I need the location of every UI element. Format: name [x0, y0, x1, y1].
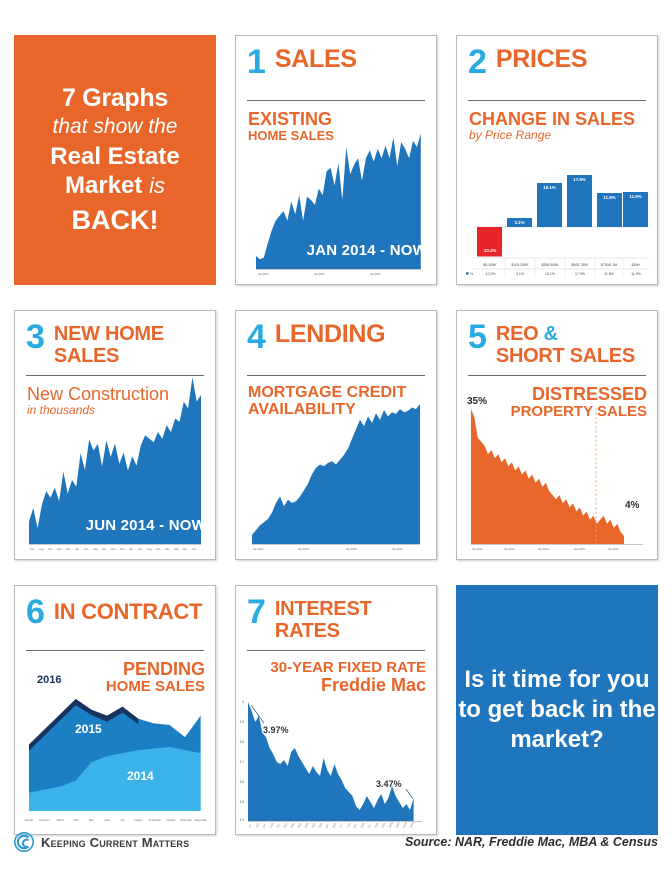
- panel-row-1: 7 Graphs that show the Real Estate Marke…: [14, 35, 660, 285]
- x-tick-2: Jan 2015: [346, 547, 357, 551]
- caption-main: PENDING: [123, 659, 205, 679]
- panel-lending-body: MORTGAGE CREDIT AVAILABILITY Apr 2012 Ja…: [236, 376, 436, 560]
- svg-text:Apr: Apr: [75, 547, 79, 551]
- x-tick-1: Jan 2013: [504, 547, 515, 551]
- svg-text:Oct: Oct: [48, 547, 52, 551]
- svg-text:Feb: Feb: [174, 547, 179, 551]
- y-tick-0: 4: [242, 700, 244, 704]
- svg-text:Oct: Oct: [156, 547, 160, 551]
- caption-main: MORTGAGE CREDIT: [248, 384, 406, 401]
- panel-row-2: 3 NEW HOME SALES New Construction in tho…: [14, 310, 660, 560]
- hero-line-3: Real Estate: [50, 143, 179, 171]
- svg-text:Jun: Jun: [138, 547, 143, 551]
- svg-text:July: July: [120, 818, 125, 822]
- panel-sales-header: 1 SALES: [236, 36, 436, 98]
- svg-text:Dec: Dec: [111, 547, 116, 551]
- chart-inlabel-date-range: JAN 2014 - NOW: [307, 242, 427, 259]
- svg-text:8/18: 8/18: [359, 822, 365, 829]
- caption-main: 30-YEAR FIXED RATE: [270, 659, 426, 676]
- y-tick-3: 3.7: [240, 760, 245, 764]
- svg-text:1/21: 1/21: [254, 822, 260, 829]
- svg-text:7/7: 7/7: [338, 823, 344, 829]
- y-tick-4: 3.6: [240, 780, 245, 784]
- bar-label-3: 17.9%: [573, 177, 586, 182]
- chart-caption-existing-home-sales: EXISTING HOME SALES: [248, 110, 334, 142]
- panel-reo-short-sales-number: 5: [468, 322, 487, 353]
- hero-title-box: 7 Graphs that show the Real Estate Marke…: [14, 35, 216, 285]
- svg-text:Aug: Aug: [39, 547, 44, 551]
- y-axis-tick-labels: 4 3.9 3.8 3.7 3.6 3.5 3.4: [240, 700, 245, 822]
- series-label-2016: 2016: [37, 674, 61, 686]
- caption-main: New Construction: [27, 384, 169, 404]
- source-attribution: Source: NAR, Freddie Mac, MBA & Census: [405, 835, 658, 849]
- panel-interest-rates-title: INTEREST RATES: [275, 597, 426, 642]
- panel-new-home-sales-number: 3: [26, 322, 45, 353]
- panel-in-contract-header: 6 IN CONTRACT: [15, 586, 215, 648]
- series-label-2015: 2015: [75, 722, 102, 736]
- svg-text:2/4: 2/4: [261, 823, 267, 829]
- hero-line-4: Market is: [65, 172, 165, 200]
- chart-caption-pending-home-sales: PENDING HOME SALES: [106, 660, 205, 694]
- cta-box: Is it time for you to get back in the ma…: [456, 585, 658, 835]
- svg-text:December: December: [195, 818, 207, 822]
- footer: Keeping Current Matters Source: NAR, Fre…: [14, 829, 658, 855]
- panel-in-contract-body: PENDING HOME SALES: [15, 651, 215, 835]
- svg-text:5/26: 5/26: [317, 822, 323, 829]
- panel-reo-short-sales-body: DISTRESSED PROPERTY SALES 35% 4% Jan 201…: [457, 376, 657, 560]
- hero-line-4-italic: is: [149, 173, 165, 198]
- svg-text:3/17: 3/17: [282, 822, 288, 829]
- y-tick-6: 3.4: [240, 818, 245, 822]
- svg-text:6/9: 6/9: [324, 823, 330, 829]
- panel-prices-body: CHANGE IN SALES by Price Range: [457, 101, 657, 285]
- svg-text:5/12: 5/12: [310, 822, 316, 829]
- panel-sales-body: EXISTING HOME SALES JAN 2014 - NOW Jan 2…: [236, 101, 436, 285]
- hero-line-4-main: Market: [65, 172, 142, 199]
- svg-text:Jun: Jun: [30, 547, 35, 551]
- y-tick-5: 3.5: [240, 800, 245, 804]
- panel-prices: 2 PRICES CHANGE IN SALES by Price Range: [456, 35, 658, 285]
- area-series: [248, 702, 414, 821]
- x-tick-0: Jan 2014: [258, 272, 269, 276]
- x-tick-2: Jan 2016: [370, 272, 381, 276]
- panel-reo-short-sales: 5 REO & SHORT SALES DISTRESSED PROPERTY …: [456, 310, 658, 560]
- x-tick-3: Jan 2016: [392, 547, 403, 551]
- panel-prices-number: 2: [468, 47, 487, 78]
- svg-text:Jun: Jun: [192, 547, 197, 551]
- start-value-label: 35%: [467, 396, 487, 407]
- svg-text:Jun: Jun: [84, 547, 89, 551]
- value-label-5: 11.9%: [631, 272, 641, 276]
- keeping-current-matters-logo-icon: [14, 832, 34, 852]
- svg-text:9/15: 9/15: [373, 822, 379, 829]
- title-ampersand: &: [544, 323, 558, 345]
- caption-main: CHANGE IN SALES: [469, 109, 635, 129]
- svg-text:4/14: 4/14: [296, 822, 302, 829]
- svg-text:1/7: 1/7: [247, 823, 253, 829]
- chart-caption-new-construction: New Construction in thousands: [27, 385, 169, 416]
- title-part-reo: REO: [496, 323, 538, 345]
- svg-text:3/3: 3/3: [275, 823, 281, 829]
- svg-text:March: March: [57, 818, 65, 822]
- panel-grid: 7 Graphs that show the Real Estate Marke…: [14, 35, 660, 860]
- x-tick-1: Jan 2013: [298, 547, 309, 551]
- chart-caption-mortgage-credit: MORTGAGE CREDIT AVAILABILITY: [248, 385, 406, 418]
- chart-caption-distressed: DISTRESSED PROPERTY SALES: [511, 385, 647, 419]
- panel-new-home-sales-title: NEW HOME SALES: [54, 322, 205, 367]
- svg-text:May: May: [89, 818, 95, 822]
- panel-lending: 4 LENDING MORTGAGE CREDIT AVAILABILITY A: [235, 310, 437, 560]
- svg-text:Aug: Aug: [93, 547, 98, 551]
- value-label-4: 11.8%: [604, 272, 614, 276]
- caption-sub: in thousands: [27, 404, 169, 416]
- panel-reo-short-sales-title: REO & SHORT SALES: [496, 322, 635, 367]
- svg-text:2/18: 2/18: [268, 822, 274, 829]
- end-annotation-leader: [406, 789, 413, 799]
- panel-interest-rates-number: 7: [247, 597, 266, 628]
- caption-sub: by Price Range: [469, 129, 635, 141]
- end-value-label: 3.47%: [376, 779, 402, 789]
- svg-text:8/4: 8/4: [352, 823, 358, 829]
- svg-text:3/31: 3/31: [289, 822, 295, 829]
- chart-caption-30yr-fixed: 30-YEAR FIXED RATE Freddie Mac: [270, 660, 426, 694]
- panel-sales-number: 1: [247, 47, 266, 78]
- caption-sub: HOME SALES: [248, 129, 334, 143]
- panel-prices-header: 2 PRICES: [457, 36, 657, 98]
- svg-text:Feb: Feb: [66, 547, 71, 551]
- svg-text:September: September: [149, 818, 162, 822]
- chart-caption-change-in-sales: CHANGE IN SALES by Price Range: [469, 110, 635, 141]
- legend-swatch: [466, 272, 469, 275]
- panel-in-contract-number: 6: [26, 597, 45, 628]
- category-label-1: $100-250K: [511, 263, 529, 267]
- x-axis-month-labels: January February March April May June Ju…: [24, 818, 207, 822]
- svg-text:6/23: 6/23: [331, 822, 337, 829]
- hero-line-1: 7 Graphs: [62, 84, 168, 114]
- value-label-3: 17.9%: [575, 272, 585, 276]
- panel-reo-short-sales-header: 5 REO & SHORT SALES: [457, 311, 657, 373]
- caption-main: EXISTING: [248, 109, 332, 129]
- area-series: [252, 404, 420, 544]
- panel-in-contract: 6 IN CONTRACT PENDING HOME SALES: [14, 585, 216, 835]
- caption-sub: Freddie Mac: [270, 676, 426, 695]
- panel-prices-title: PRICES: [496, 47, 587, 72]
- svg-text:7/21: 7/21: [345, 822, 351, 829]
- caption-sub: AVAILABILITY: [248, 402, 406, 419]
- chart-inlabel-date-range: JUN 2014 - NOW: [86, 517, 206, 534]
- x-tick-0: Apr 2012: [253, 547, 264, 551]
- category-label-2: $250-500K: [541, 263, 559, 267]
- bar-series: [477, 175, 648, 257]
- bar-label-4: 11.8%: [603, 195, 615, 200]
- cta-text: Is it time for you to get back in the ma…: [456, 665, 658, 756]
- panel-interest-rates-body: 30-YEAR FIXED RATE Freddie Mac 4 3.9 3.8…: [236, 651, 436, 835]
- svg-text:January: January: [24, 818, 34, 822]
- brand-name: Keeping Current Matters: [41, 835, 189, 850]
- svg-text:Oct: Oct: [102, 547, 106, 551]
- category-label-4: $750K-1M: [601, 263, 617, 267]
- end-value-label: 4%: [625, 500, 640, 511]
- svg-text:February: February: [39, 818, 50, 822]
- svg-text:April: April: [73, 818, 79, 822]
- brand-lockup: Keeping Current Matters: [14, 832, 189, 852]
- panel-interest-rates-header: 7 INTEREST RATES: [236, 586, 436, 648]
- x-tick-0: Jan 2012: [472, 547, 483, 551]
- bar-label-5: 11.9%: [629, 194, 641, 199]
- y-tick-2: 3.8: [240, 740, 245, 744]
- infographic-page: 7 Graphs that show the Real Estate Marke…: [0, 0, 672, 869]
- panel-sales: 1 SALES EXISTING HOME SALES JAN 2014 - N…: [235, 35, 437, 285]
- value-label-0: -10.2%: [484, 272, 495, 276]
- x-tick-1: Jan 2015: [314, 272, 325, 276]
- panel-sales-title: SALES: [275, 47, 357, 72]
- legend-label: %: [470, 272, 473, 276]
- svg-text:9/1: 9/1: [366, 823, 372, 829]
- panel-new-home-sales-body: New Construction in thousands JUN 2014 -…: [15, 376, 215, 560]
- svg-text:Dec: Dec: [57, 547, 62, 551]
- category-label-3: $500-750K: [571, 263, 589, 267]
- caption-sub: PROPERTY SALES: [511, 404, 647, 420]
- svg-text:Aug: Aug: [147, 547, 152, 551]
- value-label-1: 3.1%: [516, 272, 524, 276]
- svg-text:Apr: Apr: [183, 547, 187, 551]
- svg-text:October: October: [166, 818, 175, 822]
- y-tick-1: 3.9: [240, 720, 245, 724]
- bar-label-2: 15.1%: [543, 185, 556, 190]
- x-axis-tick-labels: JunAugOct DecFebApr JunAugOct DecFebApr …: [30, 547, 197, 551]
- hero-line-2: that show the: [53, 115, 178, 140]
- panel-interest-rates: 7 INTEREST RATES 30-YEAR FIXED RATE Fred…: [235, 585, 437, 835]
- svg-text:August: August: [134, 818, 142, 822]
- category-label-0: $0-100K: [483, 263, 497, 267]
- value-label-2: 15.1%: [545, 272, 555, 276]
- x-tick-3: Jan 2015: [574, 547, 585, 551]
- svg-text:June: June: [104, 818, 110, 822]
- caption-sub: HOME SALES: [106, 679, 205, 695]
- category-label-5: $1M+: [632, 263, 641, 267]
- svg-text:Feb: Feb: [120, 547, 125, 551]
- panel-new-home-sales: 3 NEW HOME SALES New Construction in tho…: [14, 310, 216, 560]
- title-part-short-sales: SHORT SALES: [496, 345, 635, 367]
- hero-line-5: BACK!: [72, 205, 159, 237]
- svg-text:4/28: 4/28: [303, 822, 309, 829]
- panel-lending-number: 4: [247, 322, 266, 353]
- caption-main: DISTRESSED: [532, 384, 647, 404]
- panel-lending-title: LENDING: [275, 322, 385, 347]
- bar-label-0: -10.2%: [483, 248, 497, 253]
- bar-3: [567, 175, 592, 227]
- panel-in-contract-title: IN CONTRACT: [54, 597, 202, 623]
- x-tick-2: Jan 2014: [538, 547, 549, 551]
- svg-text:Dec: Dec: [165, 547, 170, 551]
- bar-label-1: 3.1%: [514, 220, 524, 225]
- panel-row-3: 6 IN CONTRACT PENDING HOME SALES: [14, 585, 660, 835]
- area-series: [471, 409, 624, 544]
- panel-new-home-sales-header: 3 NEW HOME SALES: [15, 311, 215, 373]
- svg-text:November: November: [180, 818, 192, 822]
- series-label-2014: 2014: [127, 769, 154, 783]
- panel-lending-header: 4 LENDING: [236, 311, 436, 373]
- svg-text:9/29: 9/29: [380, 822, 386, 829]
- start-value-label: 3.97%: [263, 725, 289, 735]
- svg-text:Apr: Apr: [129, 547, 133, 551]
- x-tick-4: Jan 2016: [608, 547, 619, 551]
